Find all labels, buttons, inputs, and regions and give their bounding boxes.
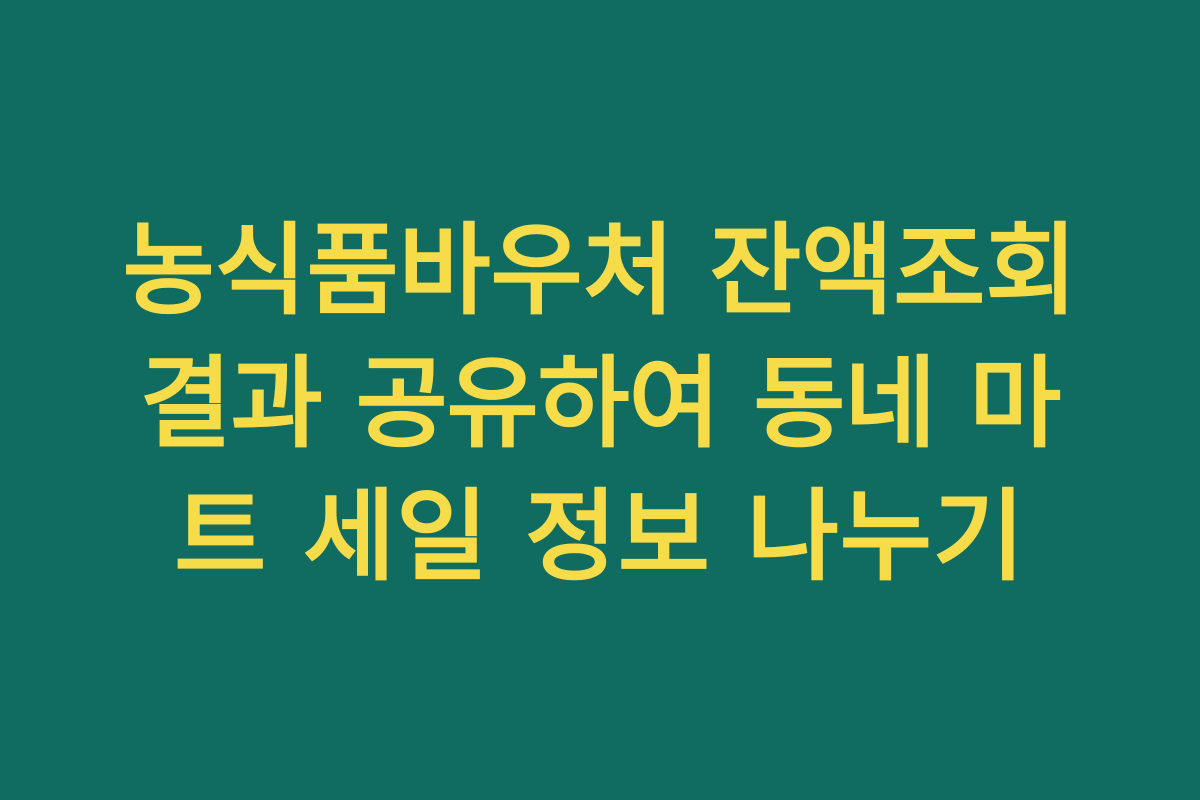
headline-block: 농식품바우처 잔액조회 결과 공유하여 동네 마 트 세일 정보 나누기 <box>95 204 1105 603</box>
headline-line-1: 농식품바우처 잔액조회 <box>95 204 1105 337</box>
banner-background: 농식품바우처 잔액조회 결과 공유하여 동네 마 트 세일 정보 나누기 <box>0 0 1200 800</box>
headline-line-3: 트 세일 정보 나누기 <box>95 470 1105 603</box>
headline-line-2: 결과 공유하여 동네 마 <box>95 337 1105 470</box>
